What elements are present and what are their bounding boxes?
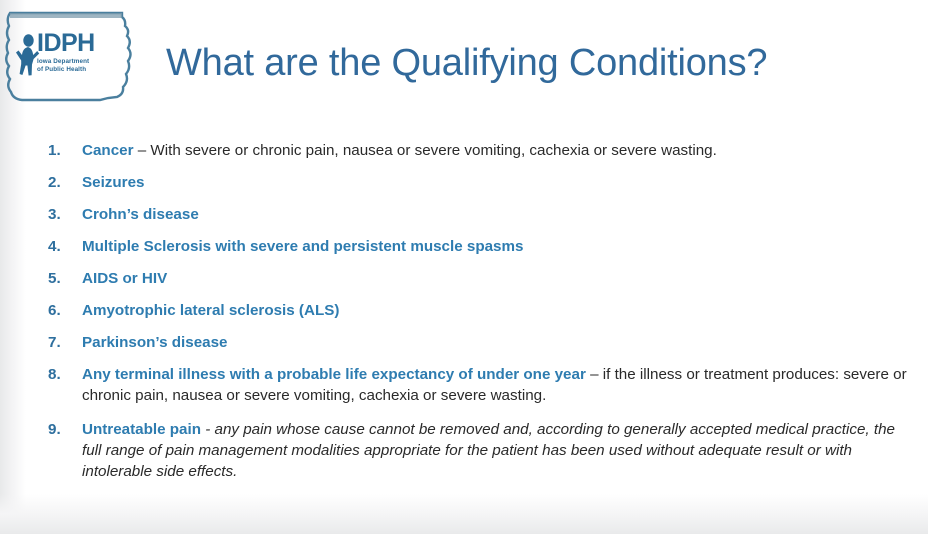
condition-term: Untreatable pain [82, 421, 201, 438]
list-item: 8.Any terminal illness with a probable l… [0, 364, 928, 406]
condition-term: Crohn’s disease [82, 206, 199, 223]
list-item: 5.AIDS or HIV [0, 268, 928, 289]
page-title: What are the Qualifying Conditions? [166, 42, 767, 85]
list-item-number: 9. [48, 419, 74, 440]
list-item: 9.Untreatable pain - any pain whose caus… [0, 419, 928, 482]
condition-term: Cancer [82, 142, 134, 159]
list-item-number: 7. [48, 332, 74, 353]
condition-term: Multiple Sclerosis with severe and persi… [82, 238, 523, 255]
qualifying-conditions-list: 1.Cancer – With severe or chronic pain, … [0, 140, 928, 495]
condition-term: Parkinson’s disease [82, 334, 227, 351]
list-item-number: 5. [48, 268, 74, 289]
condition-detail: – With severe or chronic pain, nausea or… [134, 142, 717, 159]
slide-header: IDPH Iowa Department of Public Health Wh… [0, 0, 928, 118]
idph-logo: IDPH Iowa Department of Public Health [4, 8, 136, 106]
person-arms-raised-icon [15, 34, 41, 80]
list-item: 7.Parkinson’s disease [0, 332, 928, 353]
list-item-number: 2. [48, 172, 74, 193]
list-item-number: 4. [48, 236, 74, 257]
condition-term: Amyotrophic lateral sclerosis (ALS) [82, 302, 339, 319]
condition-term: AIDS or HIV [82, 270, 167, 287]
condition-detail: - any pain whose cause cannot be removed… [82, 421, 895, 480]
list-item-number: 8. [48, 364, 74, 385]
list-item-number: 1. [48, 140, 74, 161]
list-item: 6.Amyotrophic lateral sclerosis (ALS) [0, 300, 928, 321]
list-item: 4.Multiple Sclerosis with severe and per… [0, 236, 928, 257]
list-item: 1.Cancer – With severe or chronic pain, … [0, 140, 928, 161]
list-item-number: 3. [48, 204, 74, 225]
condition-term: Seizures [82, 174, 144, 191]
list-item: 2.Seizures [0, 172, 928, 193]
list-item-number: 6. [48, 300, 74, 321]
bottom-edge-vignette [0, 494, 928, 534]
condition-term: Any terminal illness with a probable lif… [82, 366, 586, 383]
list-item: 3.Crohn’s disease [0, 204, 928, 225]
slide-canvas: IDPH Iowa Department of Public Health Wh… [0, 0, 928, 534]
